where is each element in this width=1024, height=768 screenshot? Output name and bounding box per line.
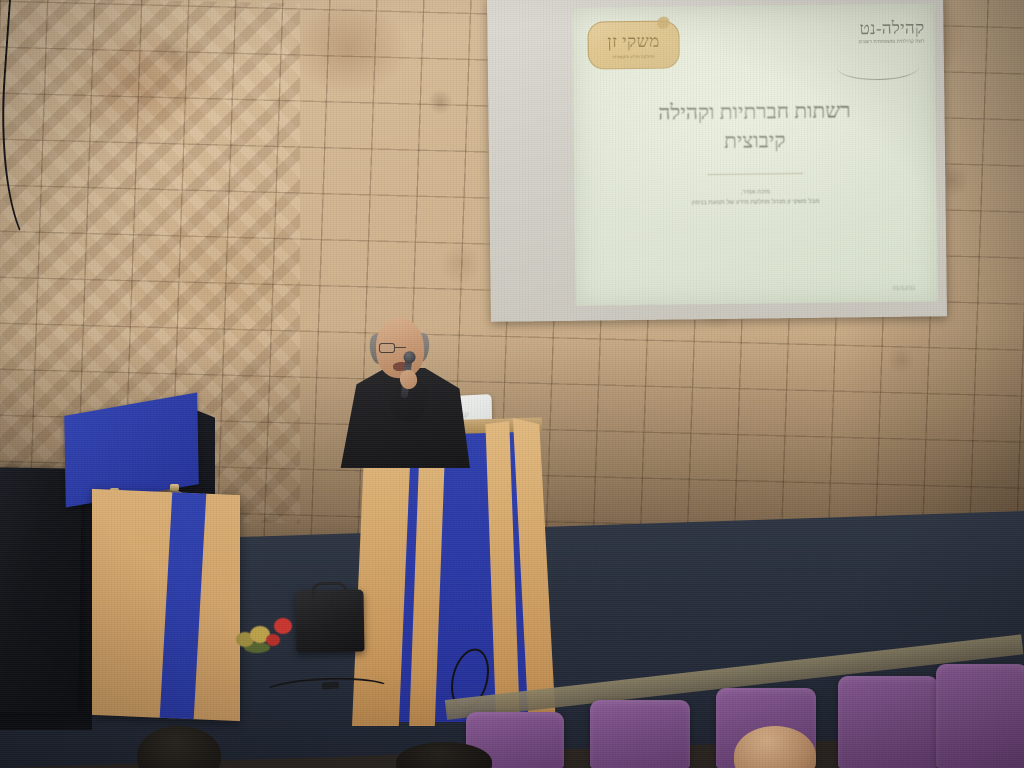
- podium-latch-right: [170, 484, 179, 491]
- projection-screen: משקי זן מחלקת מידע ותקשורת קהילה-נט רשת …: [487, 0, 947, 322]
- slide-footer-date: 01/12/11: [893, 286, 916, 292]
- logo-mashki-zan-tagline: מחלקת מידע ותקשורת: [613, 53, 655, 59]
- speaker-figure: [338, 318, 478, 468]
- cable-connector: [322, 681, 339, 689]
- seat: [838, 676, 938, 768]
- logo-mashki-zan-label: משקי זן: [607, 31, 660, 52]
- bouquet: [236, 618, 298, 654]
- logo-kehila-net-label: קהילה-נט: [816, 19, 924, 37]
- logo-kehila-net-arc: [837, 54, 919, 81]
- logo-kehila-net-tagline: רשת קהילתית ומשפחתית רשונים: [817, 38, 925, 44]
- seat: [590, 700, 690, 768]
- audience-seating: [438, 656, 1024, 768]
- speaker-glasses-icon: [379, 343, 422, 353]
- secondary-podium-body: [92, 489, 240, 721]
- bouquet-flower-red-1: [274, 618, 292, 634]
- logo-kehila-net-icon: קהילה-נט רשת קהילתית ומשפחתית רשונים: [816, 19, 925, 78]
- presentation-slide: משקי זן מחלקת מידע ותקשורת קהילה-נט רשת …: [572, 3, 938, 305]
- laptop-bag: [295, 589, 364, 652]
- secondary-podium-stripe: [160, 492, 207, 719]
- slide-title-line-1: רשתות חברתיות וקהילה: [599, 96, 909, 128]
- presentation-photo: משקי זן מחלקת מידע ותקשורת קהילה-נט רשת …: [0, 0, 1024, 768]
- slide-title-line-2: קיבוצית: [600, 124, 910, 156]
- slide-title: רשתות חברתיות וקהילה קיבוצית: [573, 95, 936, 157]
- slide-subtitle: מיכה אמיר, מבל משקי זן מנהל מחלקת מידע ש…: [574, 185, 936, 209]
- bouquet-flower-red-2: [266, 634, 280, 646]
- seat: [936, 664, 1024, 768]
- slide-divider: [707, 173, 803, 175]
- secondary-podium: [62, 404, 252, 724]
- logo-mashki-zan-icon: משקי זן מחלקת מידע ותקשורת: [587, 20, 680, 69]
